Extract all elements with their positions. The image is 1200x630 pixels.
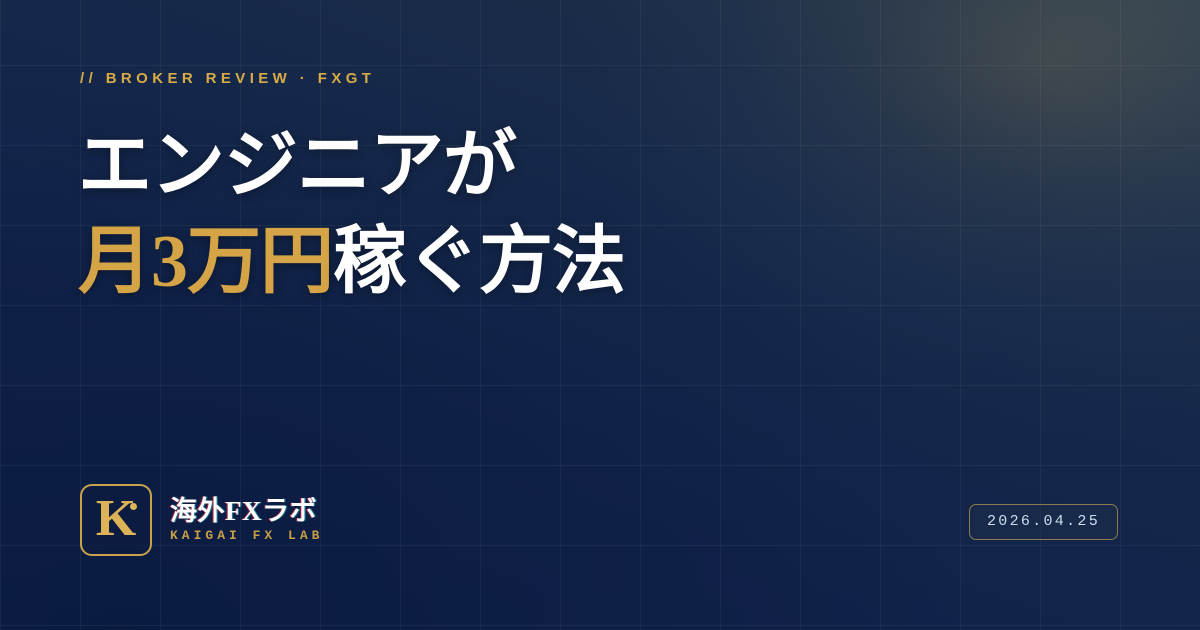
headline-line-2-text: 稼ぐ方法 (333, 221, 625, 303)
headline-line-1-text: エンジニアが (78, 125, 516, 207)
page-title: エンジニアが 月3万円稼ぐ方法 (78, 118, 625, 310)
ogp-card: // BROKER REVIEW · FXGT エンジニアが 月3万円稼ぐ方法 … (0, 0, 1200, 630)
brand-name-en: KAIGAI FX LAB (170, 528, 323, 543)
logo-mark: K (80, 484, 152, 556)
brand-text-block: 海外FXラボ KAIGAI FX LAB (170, 497, 323, 544)
headline-line-1: エンジニアが (78, 118, 625, 214)
date-badge: 2026.04.25 (969, 504, 1118, 540)
card-content: // BROKER REVIEW · FXGT エンジニアが 月3万円稼ぐ方法 … (0, 0, 1200, 630)
kicker-label: // BROKER REVIEW · FXGT (80, 70, 375, 87)
brand-lockup: K 海外FXラボ KAIGAI FX LAB (80, 484, 323, 556)
logo-letter-k: K (82, 493, 150, 545)
headline-line-2: 月3万円稼ぐ方法 (78, 214, 625, 310)
logo-accent-dot-icon (130, 503, 137, 510)
brand-name-ja: 海外FXラボ (170, 497, 323, 527)
headline-highlight-amount: 月3万円 (78, 221, 333, 303)
